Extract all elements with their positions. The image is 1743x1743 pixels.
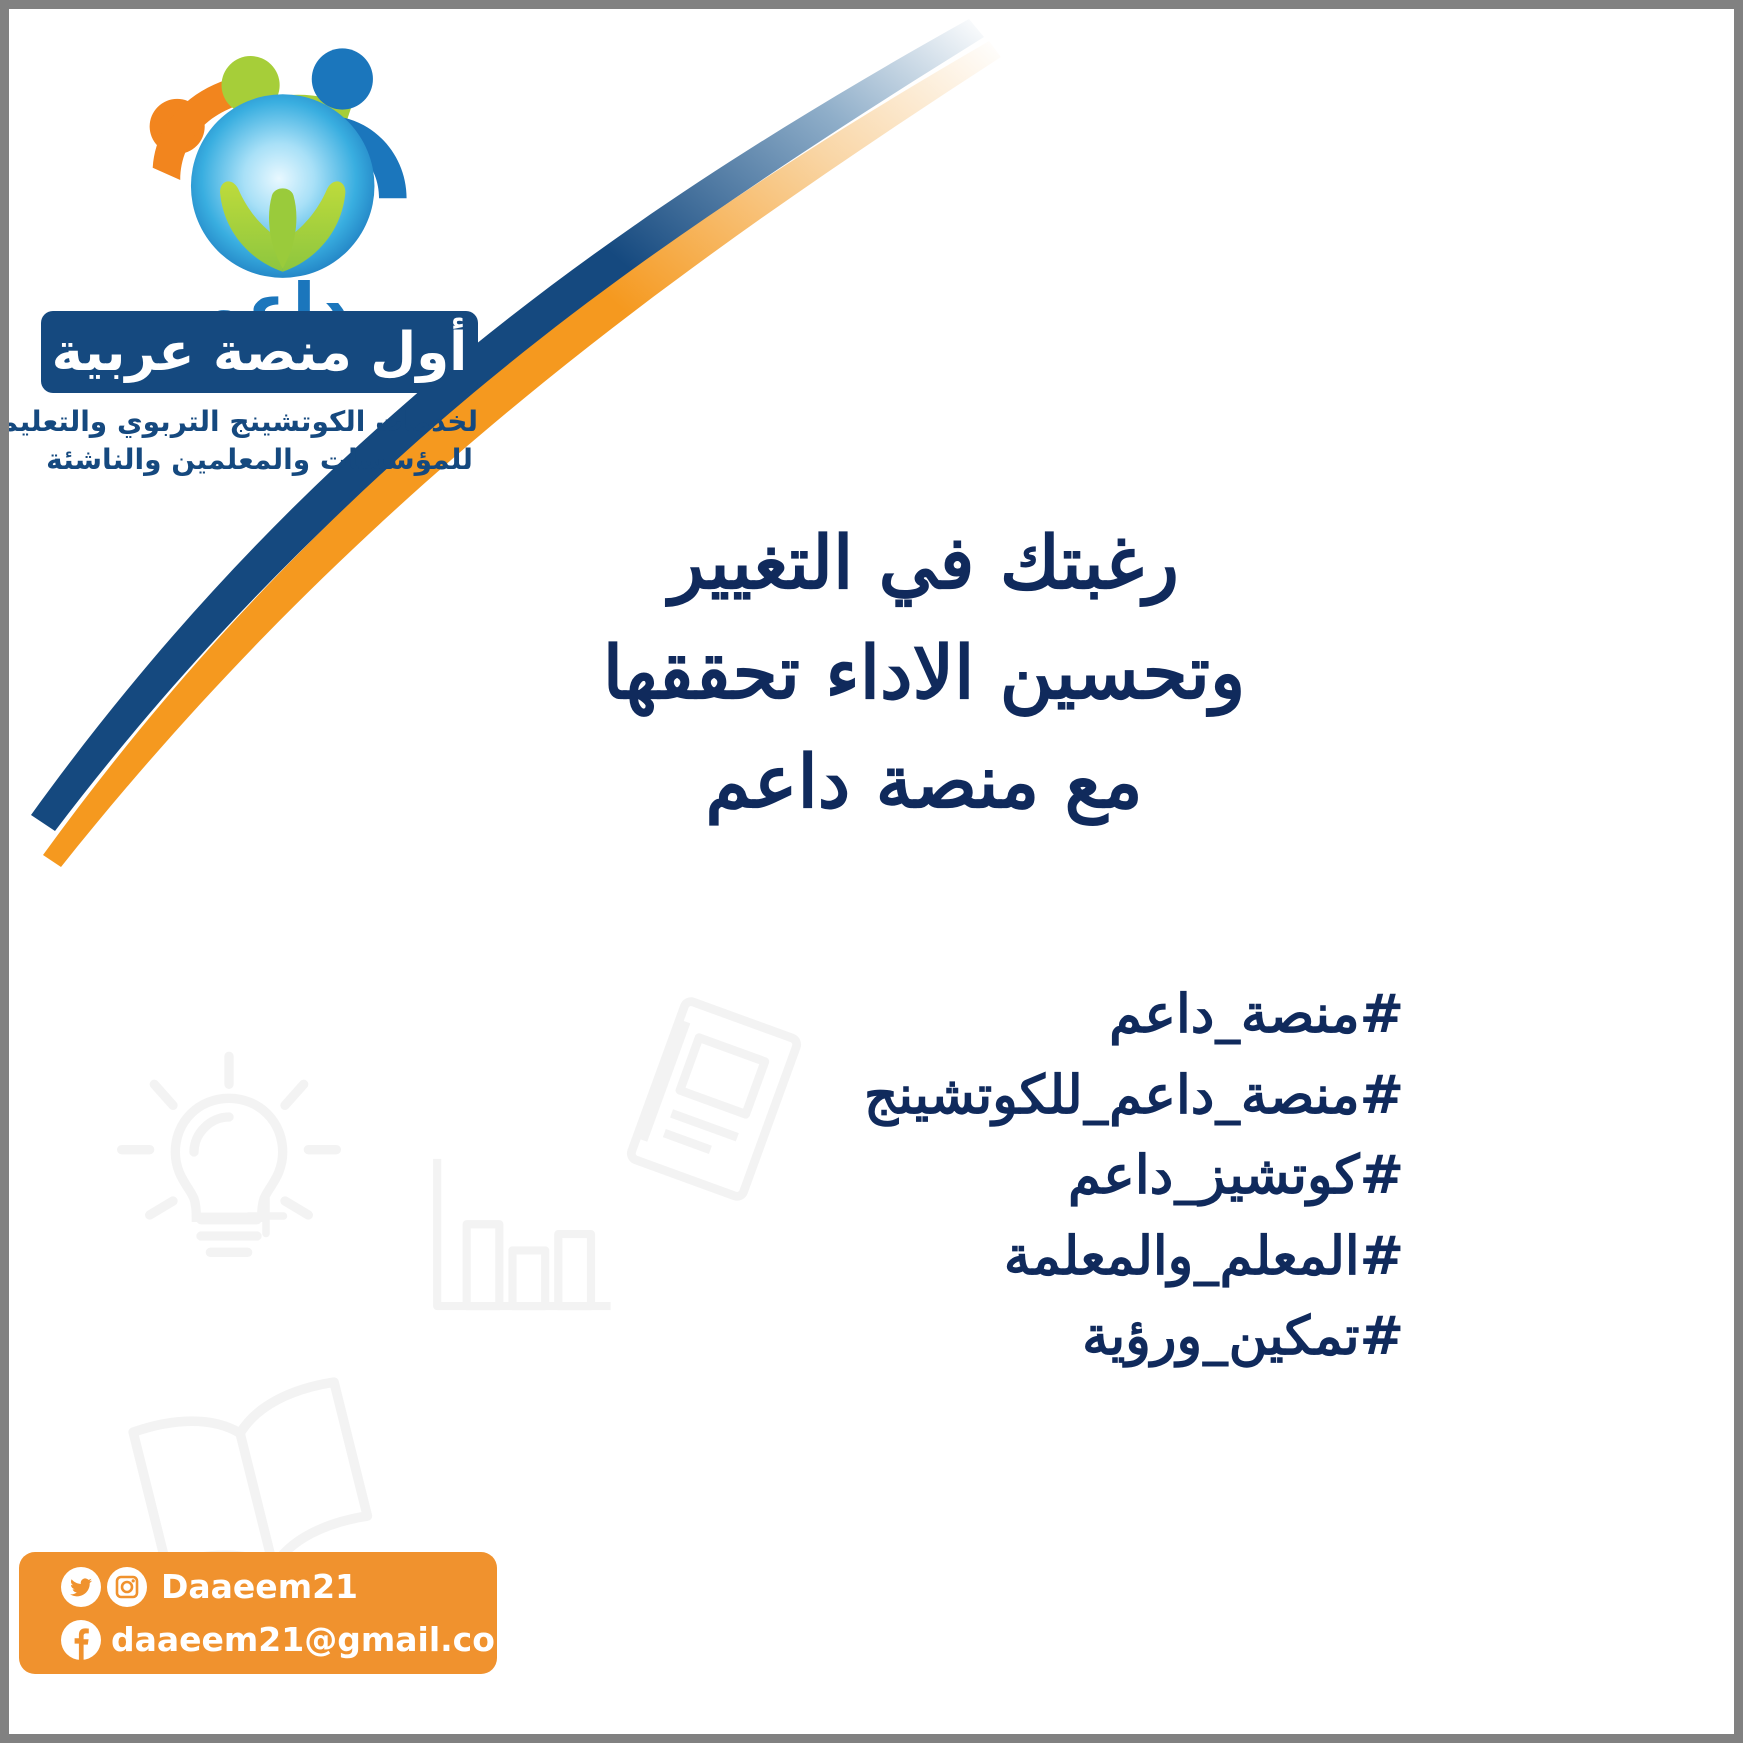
social-icons-group [61,1567,147,1607]
tagline-line-1: لخدمات الكوتشينج التربوي والتعليمي [41,403,478,441]
globe-hands-people-logo [37,27,507,287]
email-address: daaeem21@gmail.com [111,1620,529,1659]
headline-line-2: وتحسين الاداء تحققها [474,619,1374,729]
hashtag-item[interactable]: #منصة_داعم [404,974,1404,1055]
lightbulb-icon [89,1019,369,1299]
logo-person-blue-head [312,48,373,109]
badge-text: أول منصة عربية [52,326,468,379]
main-headline: رغبتك في التغيير وتحسين الاداء تحققها مع… [474,509,1374,838]
headline-line-3: مع منصة داعم [474,728,1374,838]
social-handle: Daaeem21 [161,1567,358,1606]
hashtag-item[interactable]: #كوتشيز_داعم [404,1135,1404,1216]
facebook-icon-group [61,1620,101,1660]
contact-row-social: Daaeem21 [19,1560,497,1613]
contact-row-email: daaeem21@gmail.com [19,1613,497,1666]
hashtag-item[interactable]: #المعلم_والمعلمة [404,1216,1404,1297]
contact-bar: Daaeem21 daaeem21@gmail.com [19,1552,497,1674]
tagline-line-2: للمؤسسات والمعلمين والناشئة [41,441,478,479]
twitter-icon[interactable] [61,1567,101,1607]
plus-icon [241,1191,291,1241]
headline-line-1: رغبتك في التغيير [474,509,1374,619]
poster-canvas: داعم DAAEEM21 أول منصة عربية لخدمات الكو… [0,0,1743,1743]
facebook-icon[interactable] [61,1620,101,1660]
hashtag-item[interactable]: #منصة_داعم_للكوتشينج [404,1055,1404,1136]
instagram-icon[interactable] [107,1567,147,1607]
headline-badge: أول منصة عربية [41,311,478,393]
hashtag-list: #منصة_داعم #منصة_داعم_للكوتشينج #كوتشيز_… [404,974,1404,1377]
hashtag-item[interactable]: #تمكين_ورؤية [404,1296,1404,1377]
brand-tagline: لخدمات الكوتشينج التربوي والتعليمي للمؤس… [41,403,478,479]
poster-inner: داعم DAAEEM21 أول منصة عربية لخدمات الكو… [9,9,1734,1734]
